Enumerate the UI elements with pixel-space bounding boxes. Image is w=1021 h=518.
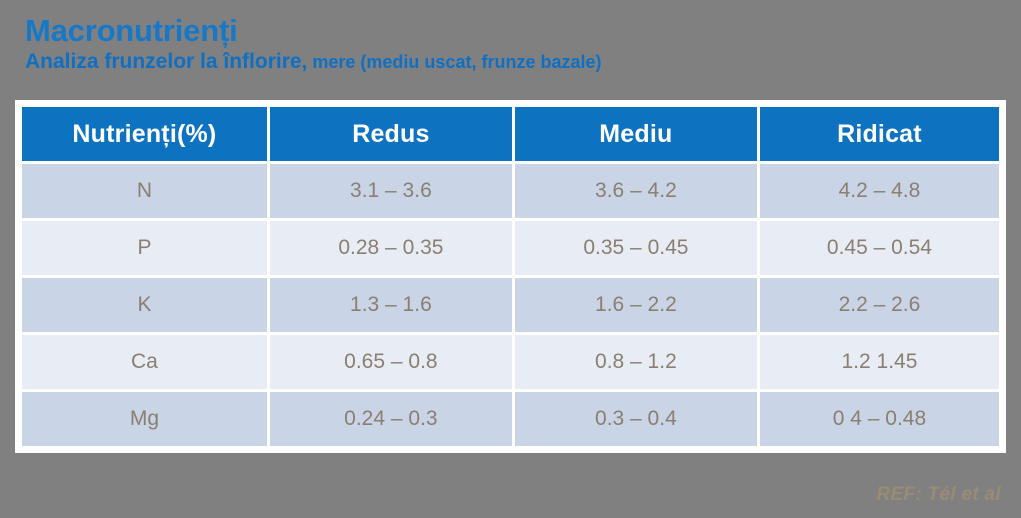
column-header-mediu: Mediu xyxy=(515,107,757,161)
cell-nutrient: K xyxy=(22,278,267,332)
table-row: P 0.28 – 0.35 0.35 – 0.45 0.45 – 0.54 xyxy=(22,221,999,275)
table-body: N 3.1 – 3.6 3.6 – 4.2 4.2 – 4.8 P 0.28 –… xyxy=(22,164,999,446)
cell-mediu: 0.35 – 0.45 xyxy=(515,221,757,275)
subtitle-strong-part: Analiza frunzelor la înflorire, xyxy=(25,50,307,73)
cell-mediu: 0.3 – 0.4 xyxy=(515,392,757,446)
cell-mediu: 1.6 – 2.2 xyxy=(515,278,757,332)
cell-ridicat: 4.2 – 4.8 xyxy=(760,164,999,218)
page-title: Macronutrienți xyxy=(25,14,985,49)
table-row: Mg 0.24 – 0.3 0.3 – 0.4 0 4 – 0.48 xyxy=(22,392,999,446)
nutrient-table: Nutrienți(%) Redus Mediu Ridicat N 3.1 –… xyxy=(19,104,1002,449)
subtitle-rest-part: mere (mediu uscat, frunze bazale) xyxy=(307,52,601,72)
cell-redus: 1.3 – 1.6 xyxy=(270,278,512,332)
cell-redus: 0.65 – 0.8 xyxy=(270,335,512,389)
cell-nutrient: Ca xyxy=(22,335,267,389)
cell-nutrient: Mg xyxy=(22,392,267,446)
table-row: N 3.1 – 3.6 3.6 – 4.2 4.2 – 4.8 xyxy=(22,164,999,218)
cell-redus: 0.28 – 0.35 xyxy=(270,221,512,275)
cell-mediu: 3.6 – 4.2 xyxy=(515,164,757,218)
cell-redus: 3.1 – 3.6 xyxy=(270,164,512,218)
table-row: Ca 0.65 – 0.8 0.8 – 1.2 1.2 1.45 xyxy=(22,335,999,389)
reference-note: REF: Tél et al xyxy=(876,484,1001,506)
cell-ridicat: 0 4 – 0.48 xyxy=(760,392,999,446)
column-header-nutrienti: Nutrienți(%) xyxy=(22,107,267,161)
column-header-redus: Redus xyxy=(270,107,512,161)
cell-ridicat: 2.2 – 2.6 xyxy=(760,278,999,332)
cell-redus: 0.24 – 0.3 xyxy=(270,392,512,446)
cell-mediu: 0.8 – 1.2 xyxy=(515,335,757,389)
cell-nutrient: P xyxy=(22,221,267,275)
cell-ridicat: 0.45 – 0.54 xyxy=(760,221,999,275)
cell-ridicat: 1.2 1.45 xyxy=(760,335,999,389)
table-row: K 1.3 – 1.6 1.6 – 2.2 2.2 – 2.6 xyxy=(22,278,999,332)
title-block: Macronutrienți Analiza frunzelor la înfl… xyxy=(25,14,985,73)
page-subtitle: Analiza frunzelor la înflorire, mere (me… xyxy=(25,50,985,73)
table-header: Nutrienți(%) Redus Mediu Ridicat xyxy=(22,107,999,161)
nutrient-table-container: Nutrienți(%) Redus Mediu Ridicat N 3.1 –… xyxy=(15,100,1006,453)
table-header-row: Nutrienți(%) Redus Mediu Ridicat xyxy=(22,107,999,161)
slide-canvas: Macronutrienți Analiza frunzelor la înfl… xyxy=(0,0,1021,518)
column-header-ridicat: Ridicat xyxy=(760,107,999,161)
cell-nutrient: N xyxy=(22,164,267,218)
